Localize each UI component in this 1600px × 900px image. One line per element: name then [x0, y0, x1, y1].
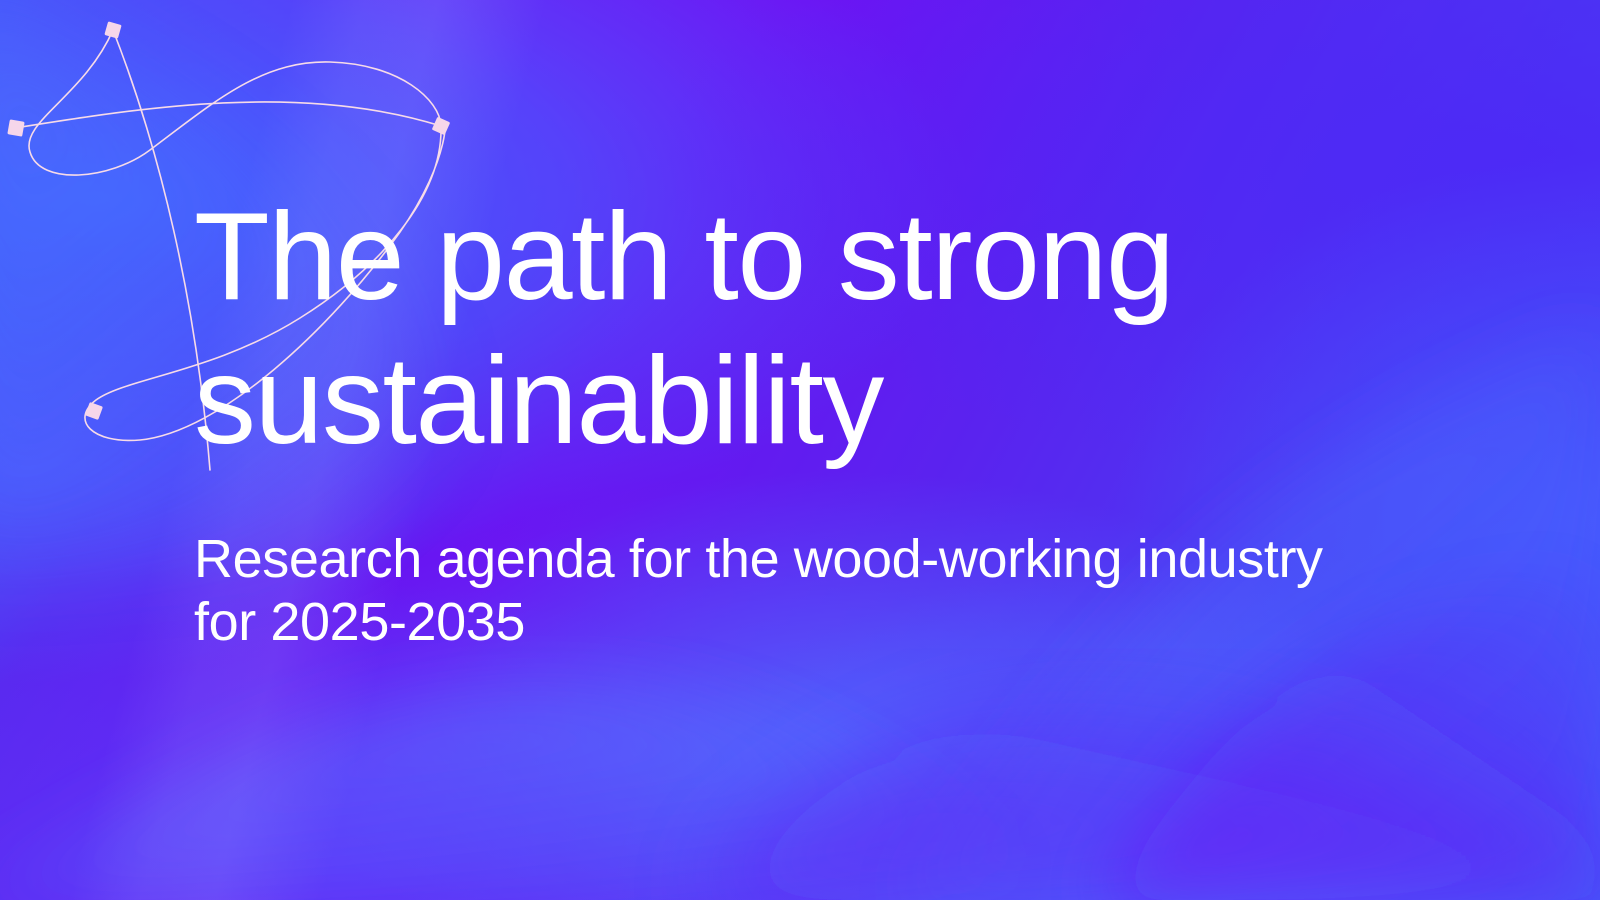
title-slide: The path to strong sustainability Resear…: [0, 0, 1600, 900]
slide-text-block: The path to strong sustainability Resear…: [194, 0, 1494, 900]
slide-subtitle: Research agenda for the wood-working ind…: [194, 528, 1324, 654]
slide-title: The path to strong sustainability: [194, 186, 1374, 474]
